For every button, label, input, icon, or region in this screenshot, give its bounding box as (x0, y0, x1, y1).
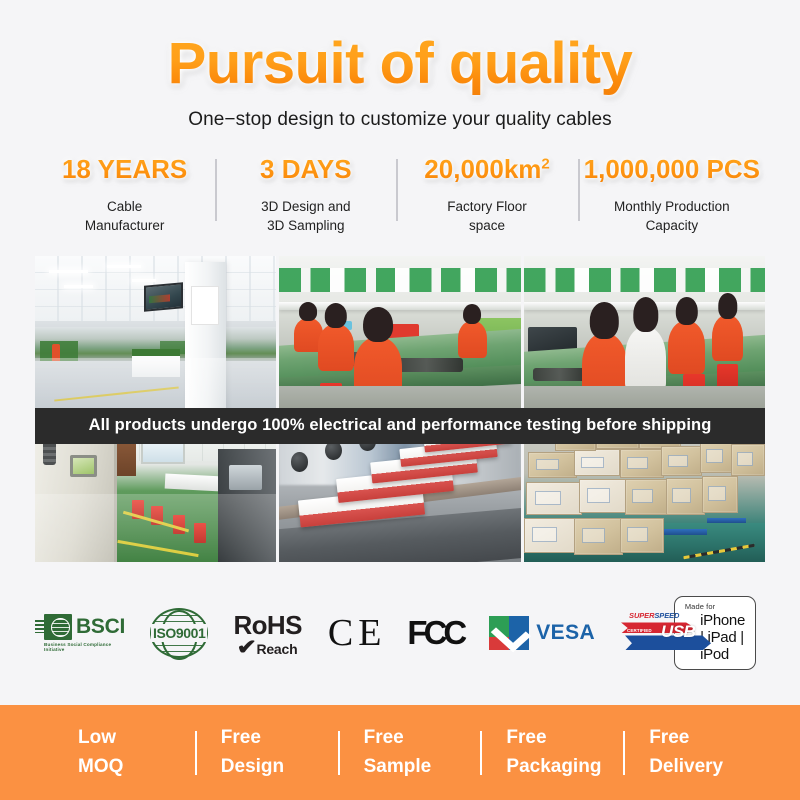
usb-certified-label: CERTIFIED (627, 628, 652, 633)
cert-rohs: RoHS ✔ Reach (233, 610, 301, 658)
ceiling-lamp (64, 285, 93, 288)
worker-figure (668, 321, 704, 374)
photo-assembly-line-stations (524, 256, 765, 411)
stat-label: Factory Floor space (402, 197, 571, 236)
superspeed-super: SUPER (629, 611, 654, 620)
check-icon: ✔ (237, 639, 257, 658)
made-for-label: Made for (685, 602, 715, 611)
photo-cable-assembly-workers (279, 256, 520, 411)
header-section: Pursuit of quality One−stop design to cu… (0, 0, 800, 131)
carton-box (666, 478, 705, 515)
benefit-low-moq: Low MOQ (52, 724, 195, 781)
ceiling-lamp (107, 265, 141, 268)
testing-banner-text: All products undergo 100% electrical and… (89, 416, 712, 435)
carton-box (620, 449, 663, 477)
superspeed-label: SUPERSPEED (629, 611, 679, 620)
carton-box (620, 518, 663, 554)
cert-iso9001: ISO9001 (151, 607, 207, 659)
carton-box (731, 444, 765, 477)
stats-row: 18 YEARS Cable Manufacturer 3 DAYS 3D De… (0, 155, 800, 236)
vesa-label: VESA (536, 621, 595, 645)
photo-factory-floor-overview (35, 256, 276, 411)
bsci-subtitle: Business Social Compliance Initiative (44, 642, 125, 652)
benefit-free-delivery: Free Delivery (623, 724, 766, 781)
carton-box (702, 476, 738, 513)
carton-box (574, 518, 622, 555)
stat-value: 1,000,000 PCS (584, 155, 760, 185)
floor-reflection (35, 358, 276, 411)
bsci-globe-icon (44, 614, 72, 640)
stat-floor-space: 20,000km2 Factory Floor space (396, 155, 577, 236)
bsci-lockup: BSCI (44, 614, 125, 640)
pillar-sign (191, 286, 219, 325)
worker-figure (458, 321, 487, 358)
stat-years: 18 YEARS Cable Manufacturer (34, 155, 215, 236)
vesa-checkmark-icon (489, 616, 529, 650)
stat-value: 18 YEARS (62, 155, 187, 185)
blue-pallet (664, 529, 707, 535)
stat-value-text: 20,000km (424, 154, 541, 184)
cert-fcc: FCC (407, 614, 463, 652)
worker-figure (712, 315, 743, 362)
cert-vesa: VESA (489, 616, 595, 650)
worker-figure (318, 324, 354, 371)
stat-value: 20,000km2 (424, 155, 550, 185)
carton-box (524, 518, 577, 554)
window (141, 441, 184, 465)
usb-label: USB (661, 622, 695, 642)
page-title: Pursuit of quality (162, 34, 639, 95)
cert-superspeed-usb: SUPERSPEED CERTIFIED USB (621, 611, 648, 655)
ceiling-lamp (49, 270, 88, 273)
stat-value: 3 DAYS (260, 155, 352, 185)
rohs-reach-lockup: ✔ Reach (238, 639, 298, 658)
worker-figure (625, 327, 666, 392)
carton-box (625, 479, 668, 515)
cable-bundle (533, 368, 586, 382)
machine-screen (70, 455, 97, 477)
testing-banner: All products undergo 100% electrical and… (35, 408, 765, 444)
photo-gallery: All products undergo 100% electrical and… (35, 256, 765, 562)
carton-box (574, 449, 620, 476)
benefit-free-packaging: Free Packaging (480, 724, 623, 781)
ce-e-glyph: E (358, 614, 381, 652)
hanging-monitor (144, 282, 183, 312)
benefit-free-sample: Free Sample (338, 724, 481, 781)
blue-pallet (707, 518, 746, 524)
floor-reflection (35, 494, 276, 562)
stat-label: Monthly Production Capacity (584, 197, 760, 236)
stat-label: Cable Manufacturer (40, 197, 209, 236)
page-subtitle: One−stop design to customize your qualit… (0, 109, 800, 131)
promo-banner-page: Pursuit of quality One−stop design to cu… (0, 0, 800, 800)
bsci-label: BSCI (76, 615, 125, 639)
carton-box (526, 482, 582, 515)
cert-bsci: BSCI Business Social Compliance Initiati… (44, 614, 125, 652)
stat-label: 3D Design and 3D Sampling (221, 197, 390, 236)
iso-label: ISO9001 (151, 624, 207, 642)
stat-value-superscript: 2 (541, 155, 549, 172)
cert-ce: C E (328, 614, 382, 652)
ceiling-lamp (132, 279, 156, 282)
certification-row: BSCI Business Social Compliance Initiati… (0, 562, 800, 705)
superspeed-speed: SPEED (654, 611, 679, 620)
machine-knob (291, 452, 308, 471)
carton-box (528, 452, 576, 477)
rohs-reach-label: Reach (256, 641, 297, 657)
wall-boards (279, 256, 520, 303)
benefits-footer: Low MOQ Free Design Free Sample Free Pac… (0, 705, 800, 800)
stat-capacity: 1,000,000 PCS Monthly Production Capacit… (578, 155, 766, 236)
carton-box (661, 446, 702, 476)
gallery-row-top (35, 256, 765, 411)
carton-box (579, 479, 627, 513)
benefit-free-design: Free Design (195, 724, 338, 781)
ce-c-glyph: C (328, 614, 353, 652)
stat-days: 3 DAYS 3D Design and 3D Sampling (215, 155, 396, 236)
